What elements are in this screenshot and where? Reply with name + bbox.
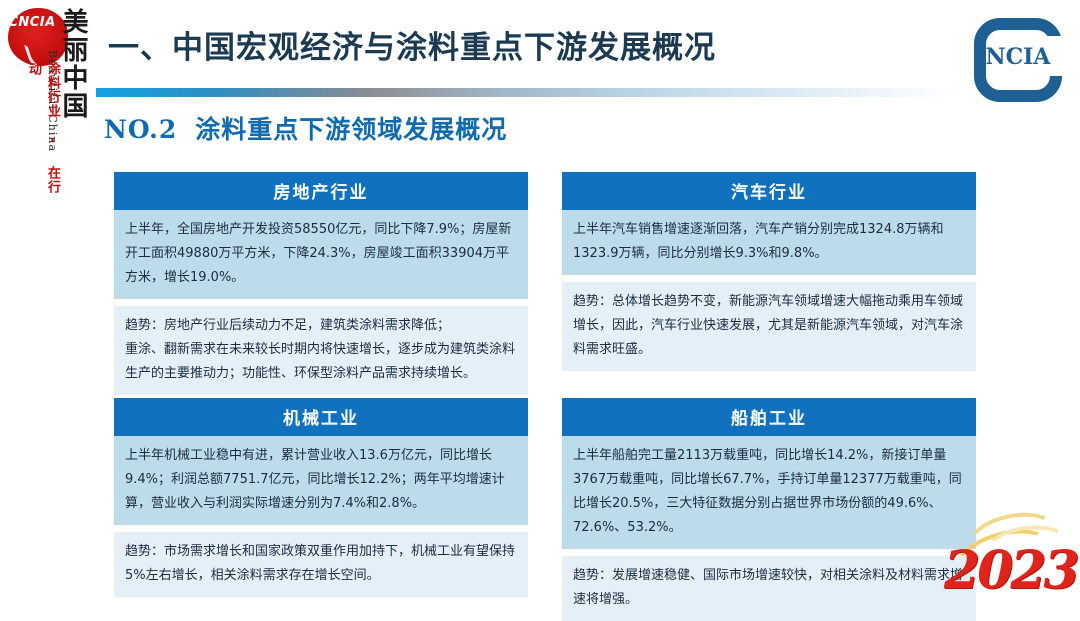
year-decoration: 2023 [940,512,1080,603]
card-body-text: 上半年，全国房地产开发投资58550亿元，同比下降7.9%；房屋新开工面积498… [114,210,528,299]
card-title: 机械工业 [114,398,528,436]
industry-card-automobile: 汽车行业 上半年汽车销售增速逐渐回落，汽车产销分别完成1324.8万辆和1323… [562,172,976,371]
card-trend-line-1: 趋势：发展增速稳健、国际市场增速较快，对相关涂料及材料需求增速将增强。 [573,564,965,612]
page-title: 一、中国宏观经济与涂料重点下游发展概况 [108,22,716,67]
card-title: 船舶工业 [562,398,976,436]
card-trend-box: 趋势：市场需求增长和国家政策双重作用加持下，机械工业有望保持5%左右增长，相关涂… [114,532,528,597]
card-trend-line-1: 趋势：房地产行业后续动力不足，建筑类涂料需求降低； [125,314,517,338]
card-body-text: 上半年汽车销售增速逐渐回落，汽车产销分别完成1324.8万辆和1323.9万辆，… [562,210,976,275]
card-body-text: 上半年机械工业稳中有进，累计营业收入13.6万亿元，同比增长9.4%；利润总额7… [114,436,528,525]
card-trend-box: 趋势：总体增长趋势不变，新能源汽车领域增速大幅拖动乘用车领域增长，因此，汽车行业… [562,282,976,371]
cncia-wordmark: CNCIA [4,15,60,30]
industry-card-real-estate: 房地产行业 上半年，全国房地产开发投资58550亿元，同比下降7.9%；房屋新开… [114,172,528,395]
section-title: 涂料重点下游领域发展概况 [195,115,507,144]
brand-vertical-title: 美丽中国 [58,8,86,120]
section-number: NO.2 [104,115,177,144]
card-title: 房地产行业 [114,172,528,210]
card-trend-box: 趋势：发展增速稳健、国际市场增速较快，对相关涂料及材料需求增速将增强。 [562,556,976,621]
brand-tagline: 涂料行业 · 在行动 [24,62,62,200]
year-label: 2023 [944,540,1077,601]
card-trend-line-1: 趋势：总体增长趋势不变，新能源汽车领域增速大幅拖动乘用车领域增长，因此，汽车行业… [573,290,965,362]
section-heading: NO.2涂料重点下游领域发展概况 [104,110,507,146]
card-title: 汽车行业 [562,172,976,210]
ncia-logo: NCIA [968,14,1068,106]
header-divider [96,88,956,97]
card-trend-box: 趋势：房地产行业后续动力不足，建筑类涂料需求降低； 重涂、翻新需求在未来较长时期… [114,306,528,395]
ncia-label: NCIA [968,44,1068,70]
card-body-text: 上半年船舶完工量2113万载重吨，同比增长14.2%，新接订单量3767万载重吨… [562,436,976,549]
industry-card-shipbuilding: 船舶工业 上半年船舶完工量2113万载重吨，同比增长14.2%，新接订单量376… [562,398,976,621]
brand-logo: CNCIA 美丽中国 Beautiful China 涂料行业 · 在行动 [0,0,90,200]
card-trend-line-2: 重涂、翻新需求在未来较长时期内将快速增长，逐步成为建筑类涂料生产的主要推动力；功… [125,338,517,386]
industry-card-machinery: 机械工业 上半年机械工业稳中有进，累计营业收入13.6万亿元，同比增长9.4%；… [114,398,528,597]
card-trend-line-1: 趋势：市场需求增长和国家政策双重作用加持下，机械工业有望保持5%左右增长，相关涂… [125,540,517,588]
